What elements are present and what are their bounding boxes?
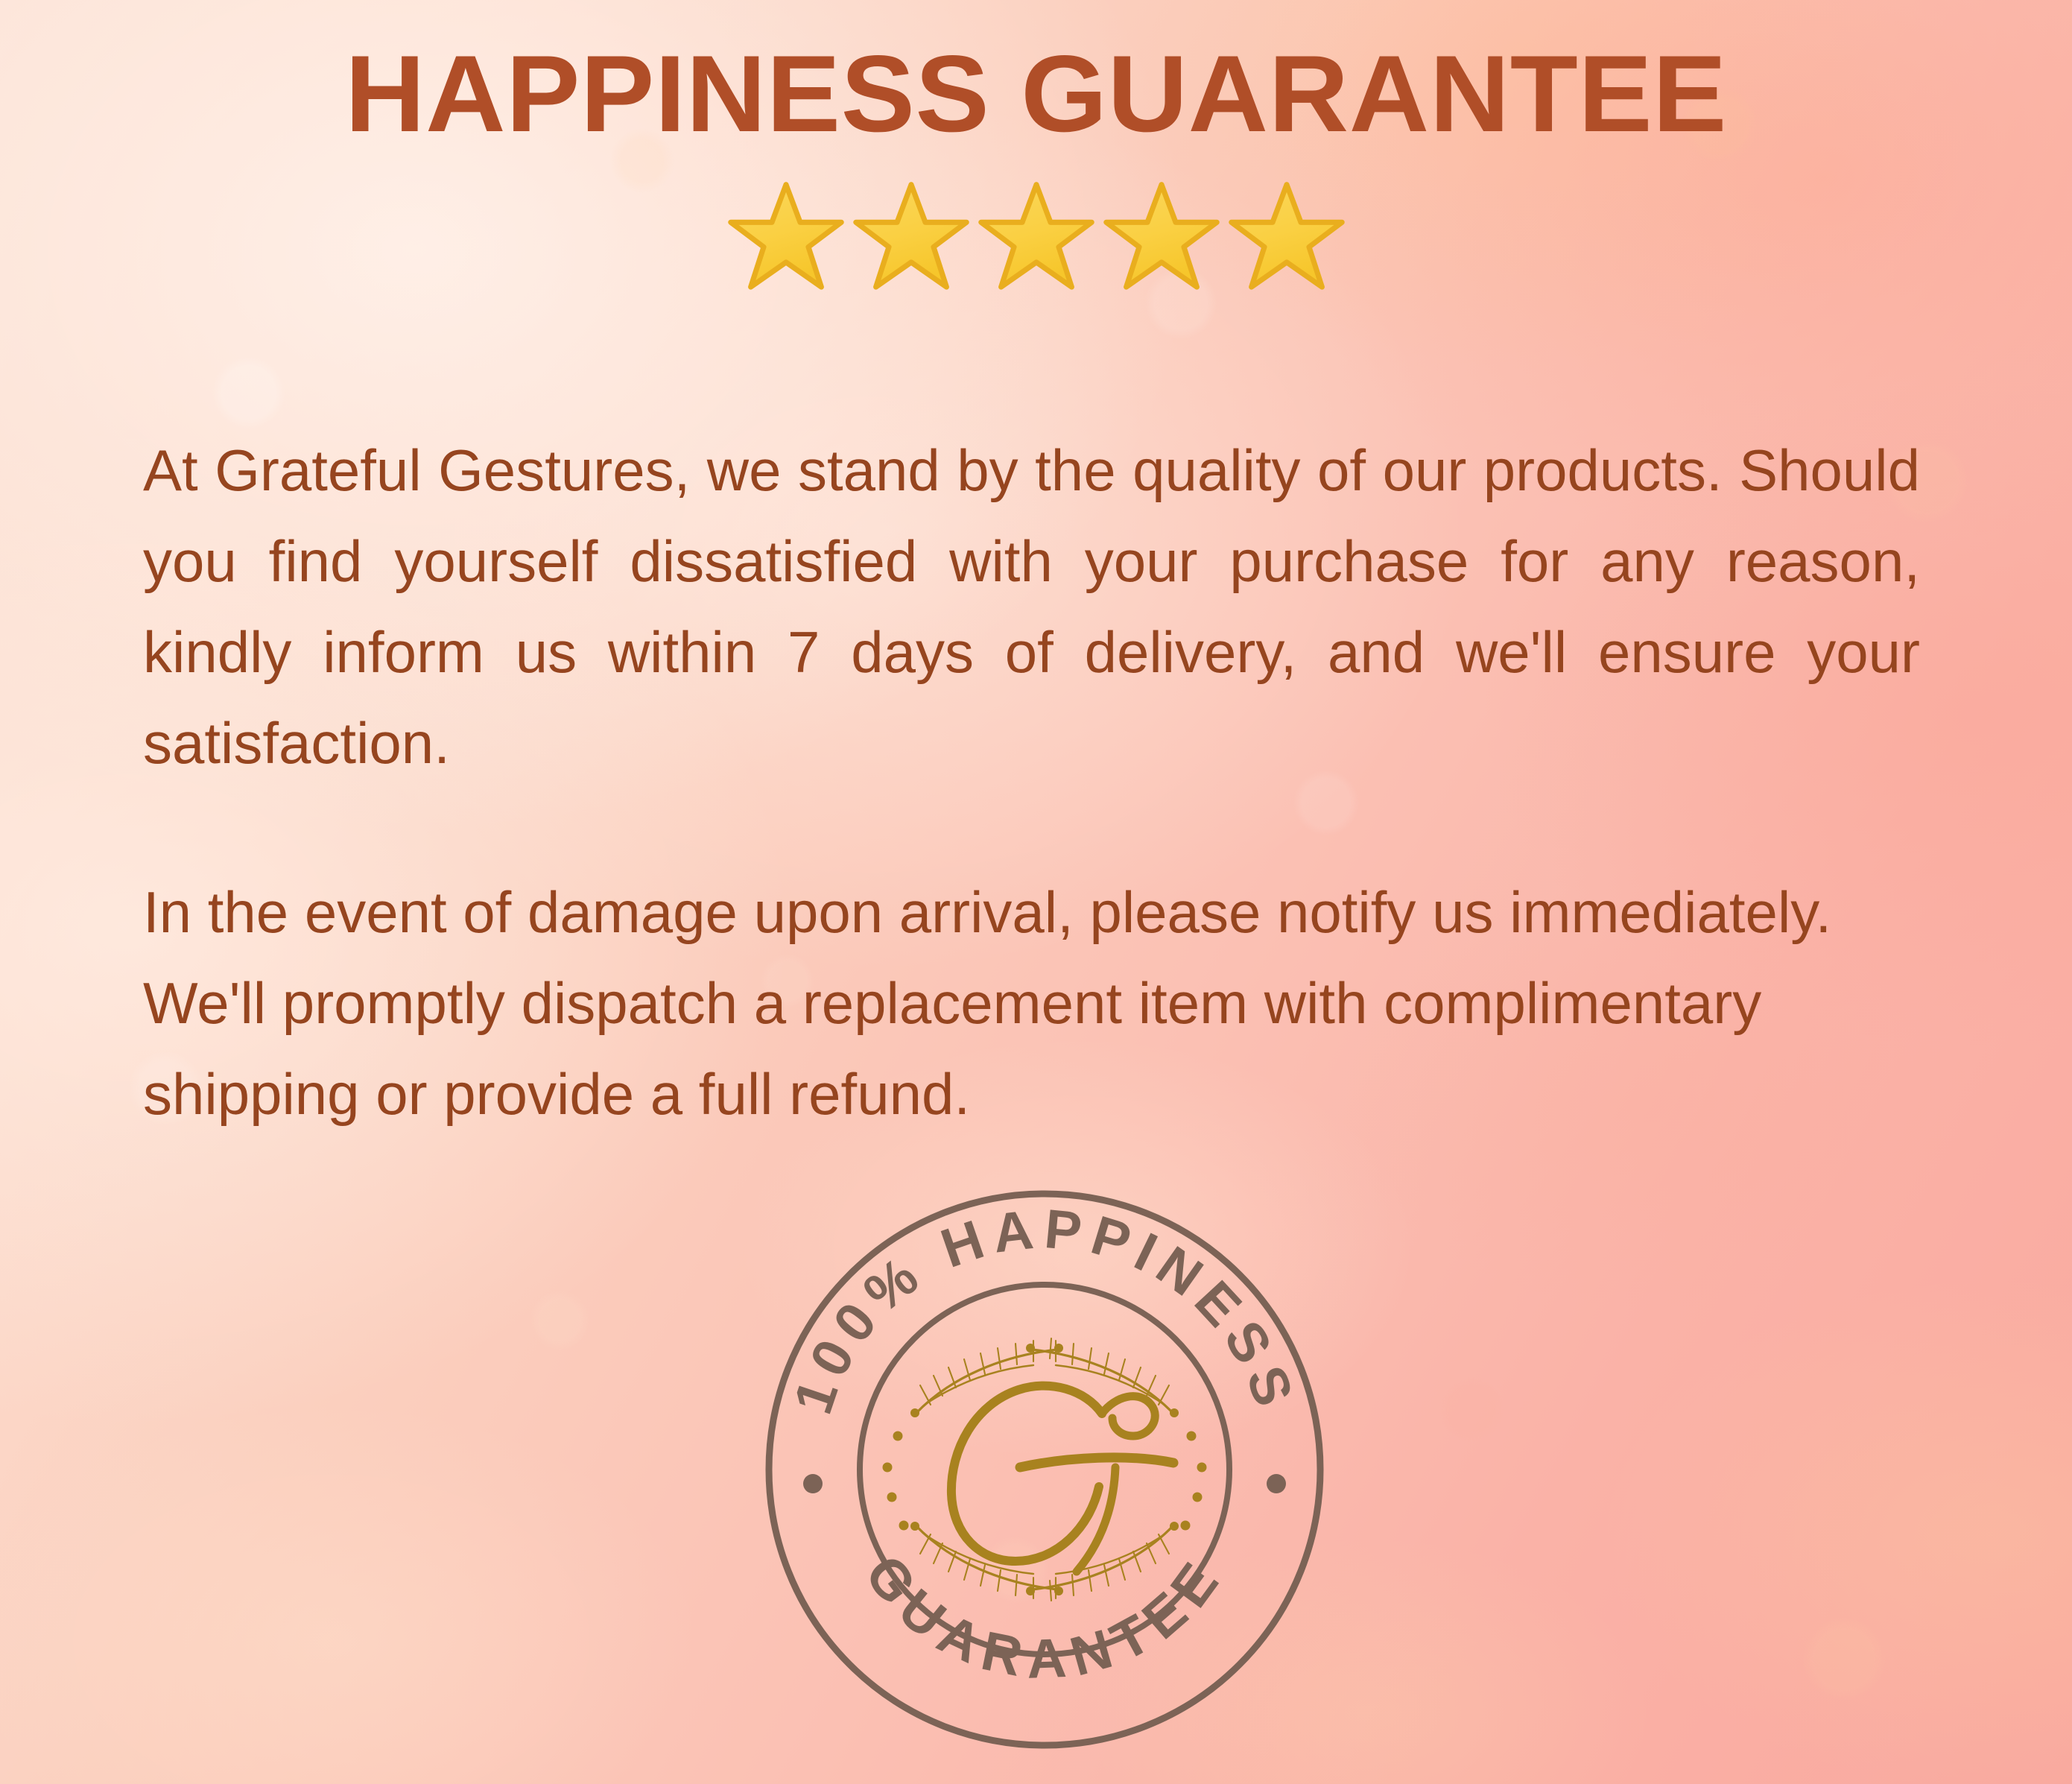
star-icon: [1228, 181, 1346, 293]
seal-dot-arcs: [883, 1432, 1207, 1531]
paragraph-quality-promise: At Grateful Gestures, we stand by the qu…: [143, 425, 1920, 788]
seal-left-dot: [803, 1474, 823, 1493]
happiness-guarantee-seal: 100% HAPPINESS GUARANTEE: [765, 1190, 1324, 1749]
star-rating: [0, 181, 2072, 293]
star-icon: [1103, 181, 1220, 293]
seal-monogram-g: [951, 1386, 1173, 1572]
seal-right-dot: [1267, 1474, 1286, 1493]
seal-bottom-arc-text: GUARANTEE: [853, 1544, 1235, 1690]
star-icon: [727, 181, 845, 293]
paragraph-damage-policy: In the event of damage upon arrival, ple…: [143, 867, 1920, 1139]
guarantee-body: At Grateful Gestures, we stand by the qu…: [143, 425, 1920, 1139]
star-icon: [852, 181, 970, 293]
star-icon: [978, 181, 1095, 293]
guarantee-page: HAPPINESS GUARANTEE At Gratef: [0, 0, 2072, 1784]
page-title: HAPPINESS GUARANTEE: [0, 39, 2072, 150]
